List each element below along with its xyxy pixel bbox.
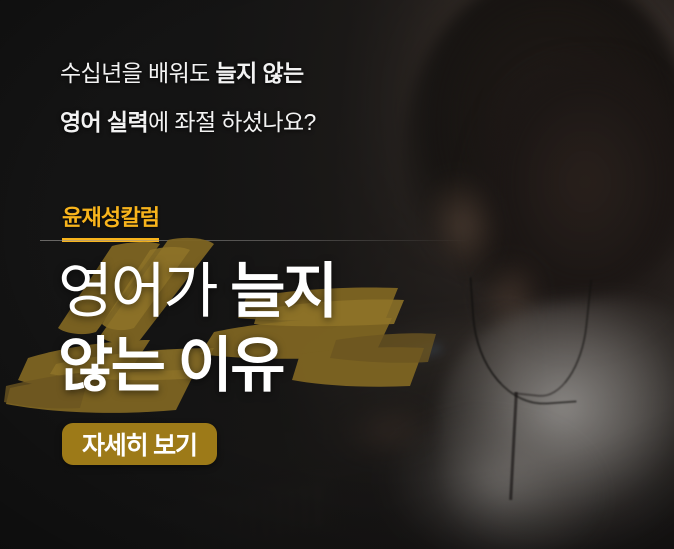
- subheadline-line-1-light: 수십년을 배워도: [60, 60, 216, 86]
- subheadline-line-2: 영어 실력에 좌절 하셨나요?: [60, 103, 316, 137]
- headline-line-2: 않는 이유: [58, 329, 283, 403]
- subheadline-line-2-light: 에 좌절 하셨나요?: [148, 109, 316, 135]
- banner-content: 수십년을 배워도 늘지 않는 영어 실력에 좌절 하셨나요? 윤재성칼럼: [0, 0, 674, 549]
- headline-line-1-bold: 늘지: [230, 258, 335, 325]
- subheadline-line-1-bold: 늘지 않는: [216, 60, 304, 86]
- subheadline-line-1: 수십년을 배워도 늘지 않는: [60, 54, 304, 88]
- promo-banner: 수십년을 배워도 늘지 않는 영어 실력에 좌절 하셨나요? 윤재성칼럼: [0, 0, 674, 549]
- headline-line-2-bold: 않는 이유: [58, 332, 283, 399]
- view-details-button[interactable]: 자세히 보기: [62, 423, 217, 465]
- headline-line-1: 영어가 늘지: [58, 255, 336, 329]
- headline-line-1-semi: 영어가: [58, 258, 230, 325]
- subheadline-line-2-bold: 영어 실력: [60, 109, 148, 135]
